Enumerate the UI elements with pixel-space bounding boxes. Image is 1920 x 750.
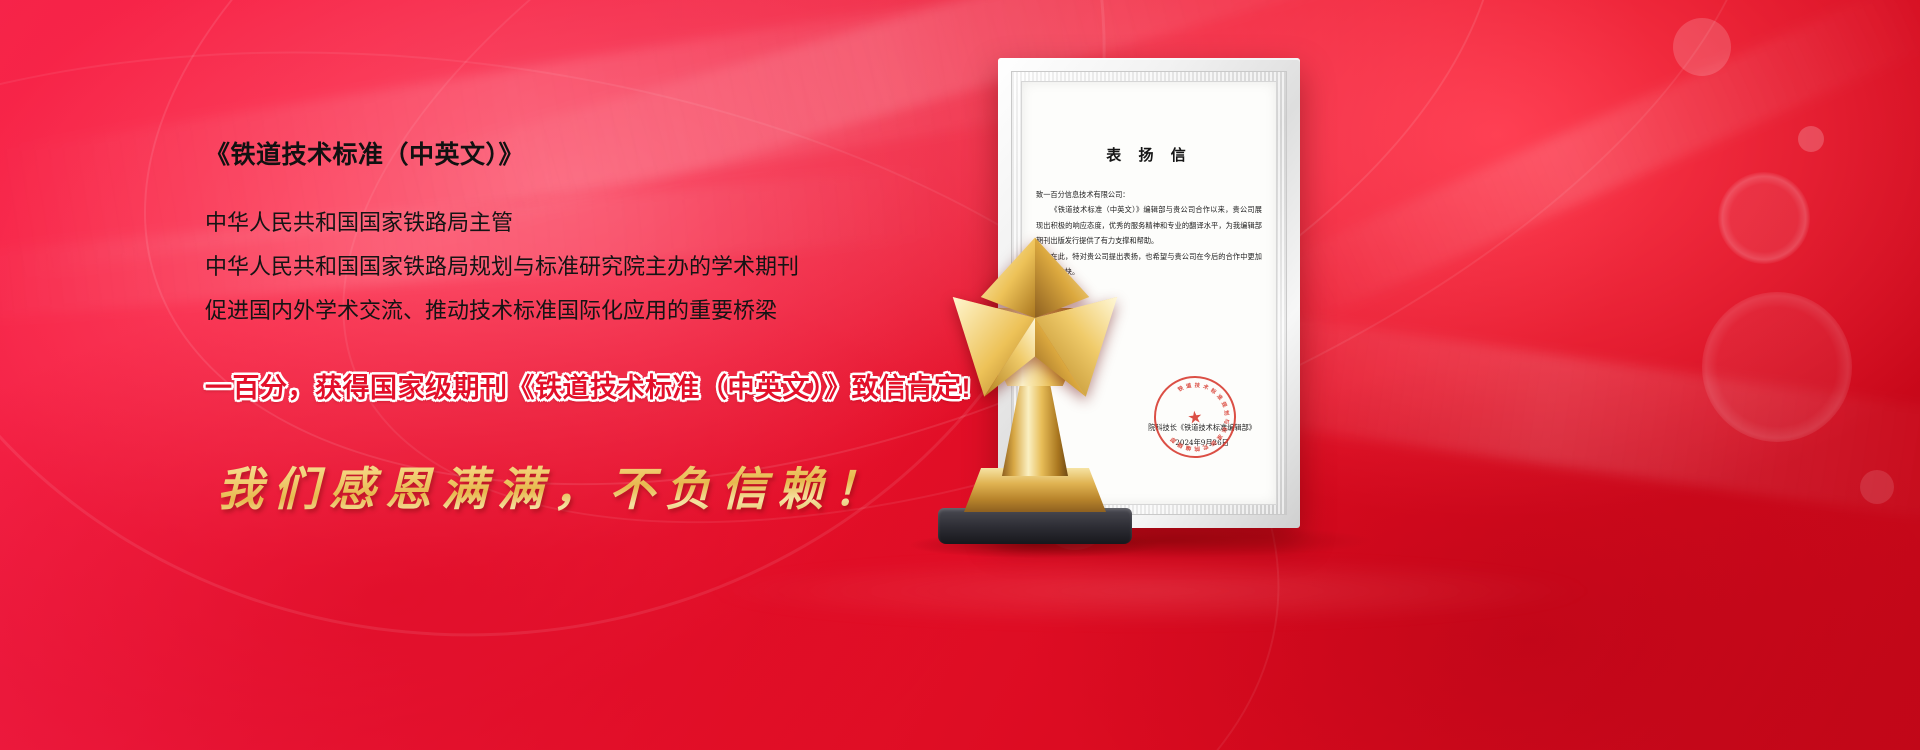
description-line-3: 促进国内外学术交流、推动技术标准国际化应用的重要桥梁: [205, 300, 965, 322]
headline: 一百分，获得国家级期刊《铁道技术标准（中英文）》致信肯定!: [205, 366, 965, 405]
journal-title: 《铁道技术标准（中英文）》: [205, 140, 965, 170]
bokeh-circle-4: [1702, 292, 1852, 442]
star-icon: [946, 234, 1124, 402]
background-ribbon-5: [1266, 0, 1920, 329]
trophy-base: [938, 508, 1132, 544]
gold-star-trophy: [920, 250, 1150, 560]
description-line-1: 中华人民共和国国家铁路局主管: [205, 212, 965, 234]
bokeh-circle-3: [1718, 172, 1810, 264]
certificate-salutation: 致一百分信息技术有限公司：: [1036, 187, 1262, 202]
certificate-title: 表 扬 信: [1022, 144, 1276, 165]
ground-glow: [700, 556, 1600, 626]
promo-banner: 《铁道技术标准（中英文）》 中华人民共和国国家铁路局主管 中华人民共和国国家铁路…: [0, 0, 1920, 750]
bokeh-circle-2: [1798, 126, 1824, 152]
bokeh-circle-1: [1673, 18, 1731, 76]
seal-ring-text: 铁道技术标准规划与标准研究院编辑部: [1156, 378, 1234, 456]
calligraphy-slogan: 我们感恩满满，不负信赖！: [217, 453, 965, 519]
bokeh-circle-7: [1860, 470, 1894, 504]
description-line-2: 中华人民共和国国家铁路局规划与标准研究院主办的学术期刊: [205, 256, 965, 278]
copy-block: 《铁道技术标准（中英文）》 中华人民共和国国家铁路局主管 中华人民共和国国家铁路…: [205, 140, 965, 519]
